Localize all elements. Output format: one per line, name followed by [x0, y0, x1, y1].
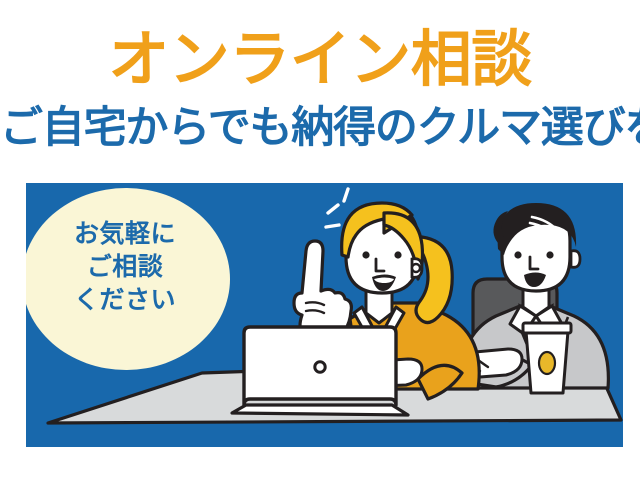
- badge-line-2: ご相談: [30, 251, 220, 284]
- headline-block: オンライン相談 ご自宅からでも納得のクルマ選びを: [0, 0, 640, 176]
- badge-line-1: お気軽に: [30, 218, 220, 251]
- illustration-panel: お気軽に ご相談 ください: [26, 183, 623, 447]
- page-title: オンライン相談: [0, 26, 640, 92]
- online-consultation-banner: オンライン相談 ご自宅からでも納得のクルマ選びを: [0, 0, 640, 480]
- badge-circle: お気軽に ご相談 ください: [26, 188, 230, 370]
- page-subtitle: ご自宅からでも納得のクルマ選びを: [0, 104, 640, 152]
- sparkle-icon: [326, 189, 348, 227]
- coffee-cup-shape: [523, 323, 571, 393]
- badge-line-3: ください: [30, 284, 220, 317]
- badge-text: お気軽に ご相談 ください: [30, 218, 220, 317]
